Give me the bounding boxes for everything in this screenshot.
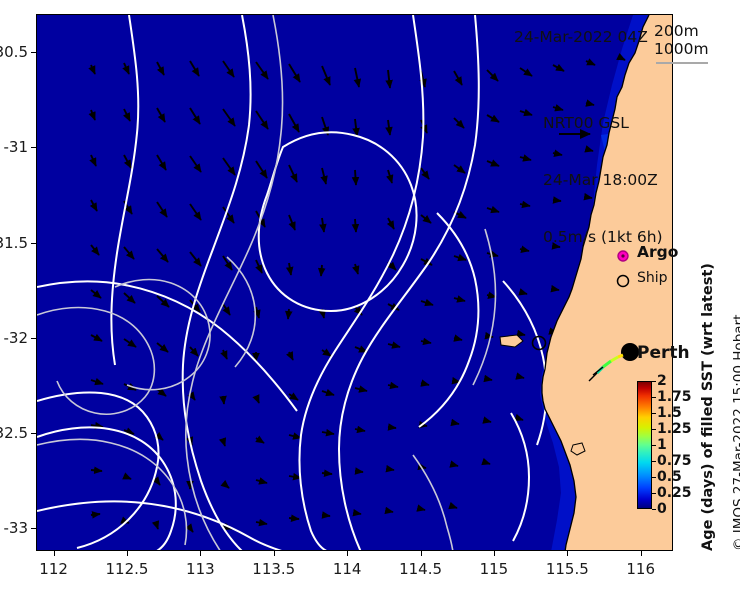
y-tick-label: -32.5 bbox=[0, 424, 28, 442]
bathymetry-200m-label: 200m bbox=[654, 22, 699, 40]
x-tick-label: 114 bbox=[312, 560, 382, 578]
colorbar-tick-label: 1.25 bbox=[657, 421, 692, 437]
y-tick-mark bbox=[31, 338, 36, 339]
y-tick-label: -31 bbox=[0, 138, 28, 156]
colorbar-tick-label: 1 bbox=[657, 437, 667, 453]
colorbar-axis-title: Age (days) of filled SST (wrt latest) bbox=[700, 263, 716, 551]
current-scale-arrow-icon bbox=[558, 128, 600, 140]
x-tick-label: 113.5 bbox=[239, 560, 309, 578]
x-tick-mark bbox=[494, 551, 495, 556]
x-tick-label: 113 bbox=[165, 560, 235, 578]
x-tick-label: 115 bbox=[459, 560, 529, 578]
ship-marker-icon bbox=[615, 273, 631, 289]
colorbar-gradient bbox=[637, 381, 652, 509]
y-tick-label: -31.5 bbox=[0, 234, 28, 252]
y-tick-mark bbox=[31, 433, 36, 434]
y-tick-label: -33 bbox=[0, 519, 28, 537]
colorbar-tick-mark bbox=[652, 429, 656, 430]
x-tick-mark bbox=[54, 551, 55, 556]
colorbar-tick-mark bbox=[652, 477, 656, 478]
copyright-label: © IMOS 27-Mar-2022 15:00 Hobart bbox=[731, 315, 740, 551]
argo-marker-icon bbox=[615, 248, 631, 264]
y-tick-mark bbox=[31, 528, 36, 529]
y-tick-label: -30.5 bbox=[0, 43, 28, 61]
colorbar-tick-mark bbox=[652, 509, 656, 510]
argo-legend-label: Argo bbox=[637, 243, 678, 261]
colorbar-tick-mark bbox=[652, 381, 656, 382]
colorbar-tick-mark bbox=[652, 445, 656, 446]
bathymetry-legend-line bbox=[656, 62, 708, 64]
x-tick-mark bbox=[641, 551, 642, 556]
x-tick-mark bbox=[421, 551, 422, 556]
current-valid-time-label: 24-Mar 18:00Z bbox=[543, 171, 663, 190]
x-tick-mark bbox=[567, 551, 568, 556]
colorbar-tick-label: 0 bbox=[657, 501, 667, 517]
sst-age-map-figure: 24-Mar-2022 04Z 200m 1000m NRT00 GSL 24-… bbox=[0, 0, 740, 592]
colorbar-tick-mark bbox=[652, 413, 656, 414]
y-tick-mark bbox=[31, 52, 36, 53]
x-tick-label: 116 bbox=[606, 560, 676, 578]
x-tick-mark bbox=[347, 551, 348, 556]
colorbar-tick-label: 0.75 bbox=[657, 453, 692, 469]
colorbar-tick-mark bbox=[652, 461, 656, 462]
x-tick-mark bbox=[274, 551, 275, 556]
x-tick-label: 115.5 bbox=[532, 560, 602, 578]
timestamp-label: 24-Mar-2022 04Z bbox=[514, 28, 648, 46]
bathymetry-1000m-label: 1000m bbox=[654, 40, 709, 58]
y-tick-label: -32 bbox=[0, 329, 28, 347]
colorbar-tick-mark bbox=[652, 397, 656, 398]
y-tick-mark bbox=[31, 147, 36, 148]
perth-city-label: Perth bbox=[637, 343, 690, 363]
colorbar-tick-mark bbox=[652, 493, 656, 494]
ship-legend-label: Ship bbox=[637, 270, 668, 286]
colorbar-tick-label: 2 bbox=[657, 373, 667, 389]
x-tick-mark bbox=[200, 551, 201, 556]
colorbar-tick-label: 0.5 bbox=[657, 469, 682, 485]
x-tick-label: 112.5 bbox=[92, 560, 162, 578]
x-tick-label: 112 bbox=[19, 560, 89, 578]
colorbar-tick-label: 1.5 bbox=[657, 405, 682, 421]
colorbar-tick-label: 1.75 bbox=[657, 389, 692, 405]
x-tick-label: 114.5 bbox=[386, 560, 456, 578]
y-tick-mark bbox=[31, 243, 36, 244]
x-tick-mark bbox=[127, 551, 128, 556]
colorbar-tick-label: 0.25 bbox=[657, 485, 692, 501]
